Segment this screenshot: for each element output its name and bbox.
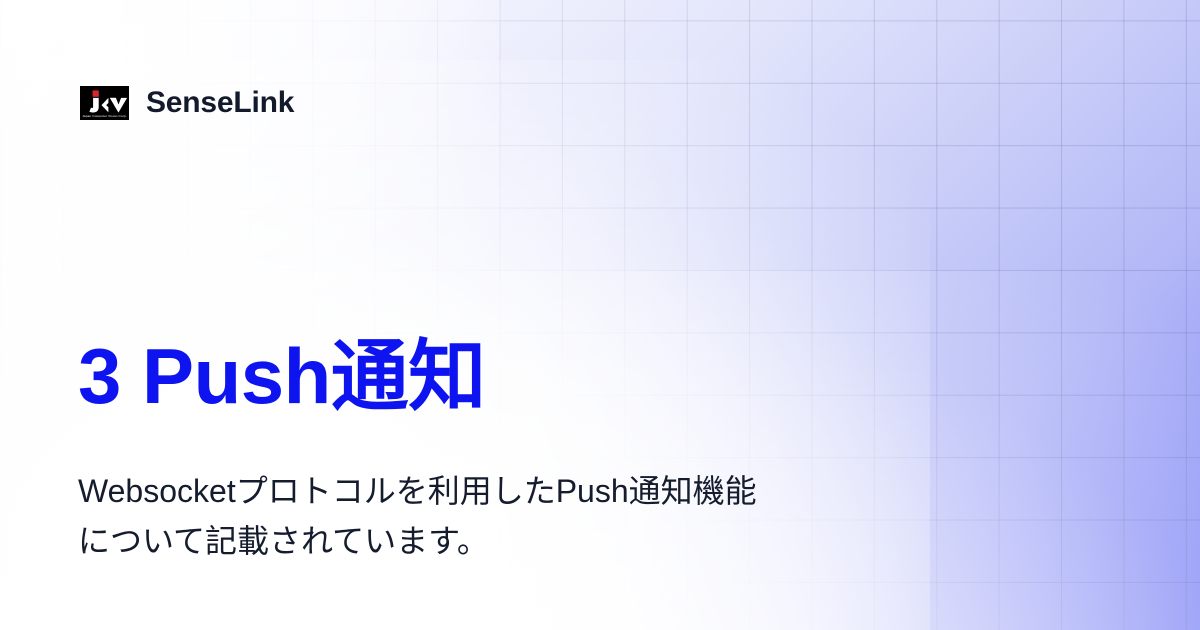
page-description: Websocketプロトコルを利用したPush通知機能 について記載されています… [78,466,938,566]
page-title: 3 Push通知 [78,333,486,420]
jcv-logo-icon: Japan Computer Vision Corp. [80,86,129,120]
brand-name: SenseLink [146,88,294,118]
card-content: Japan Computer Vision Corp. SenseLink 3 … [0,0,1200,630]
og-banner-card: Japan Computer Vision Corp. SenseLink 3 … [0,0,1200,630]
svg-text:Japan Computer Vision Corp.: Japan Computer Vision Corp. [82,114,127,118]
brand-lockup: Japan Computer Vision Corp. SenseLink [80,86,294,120]
